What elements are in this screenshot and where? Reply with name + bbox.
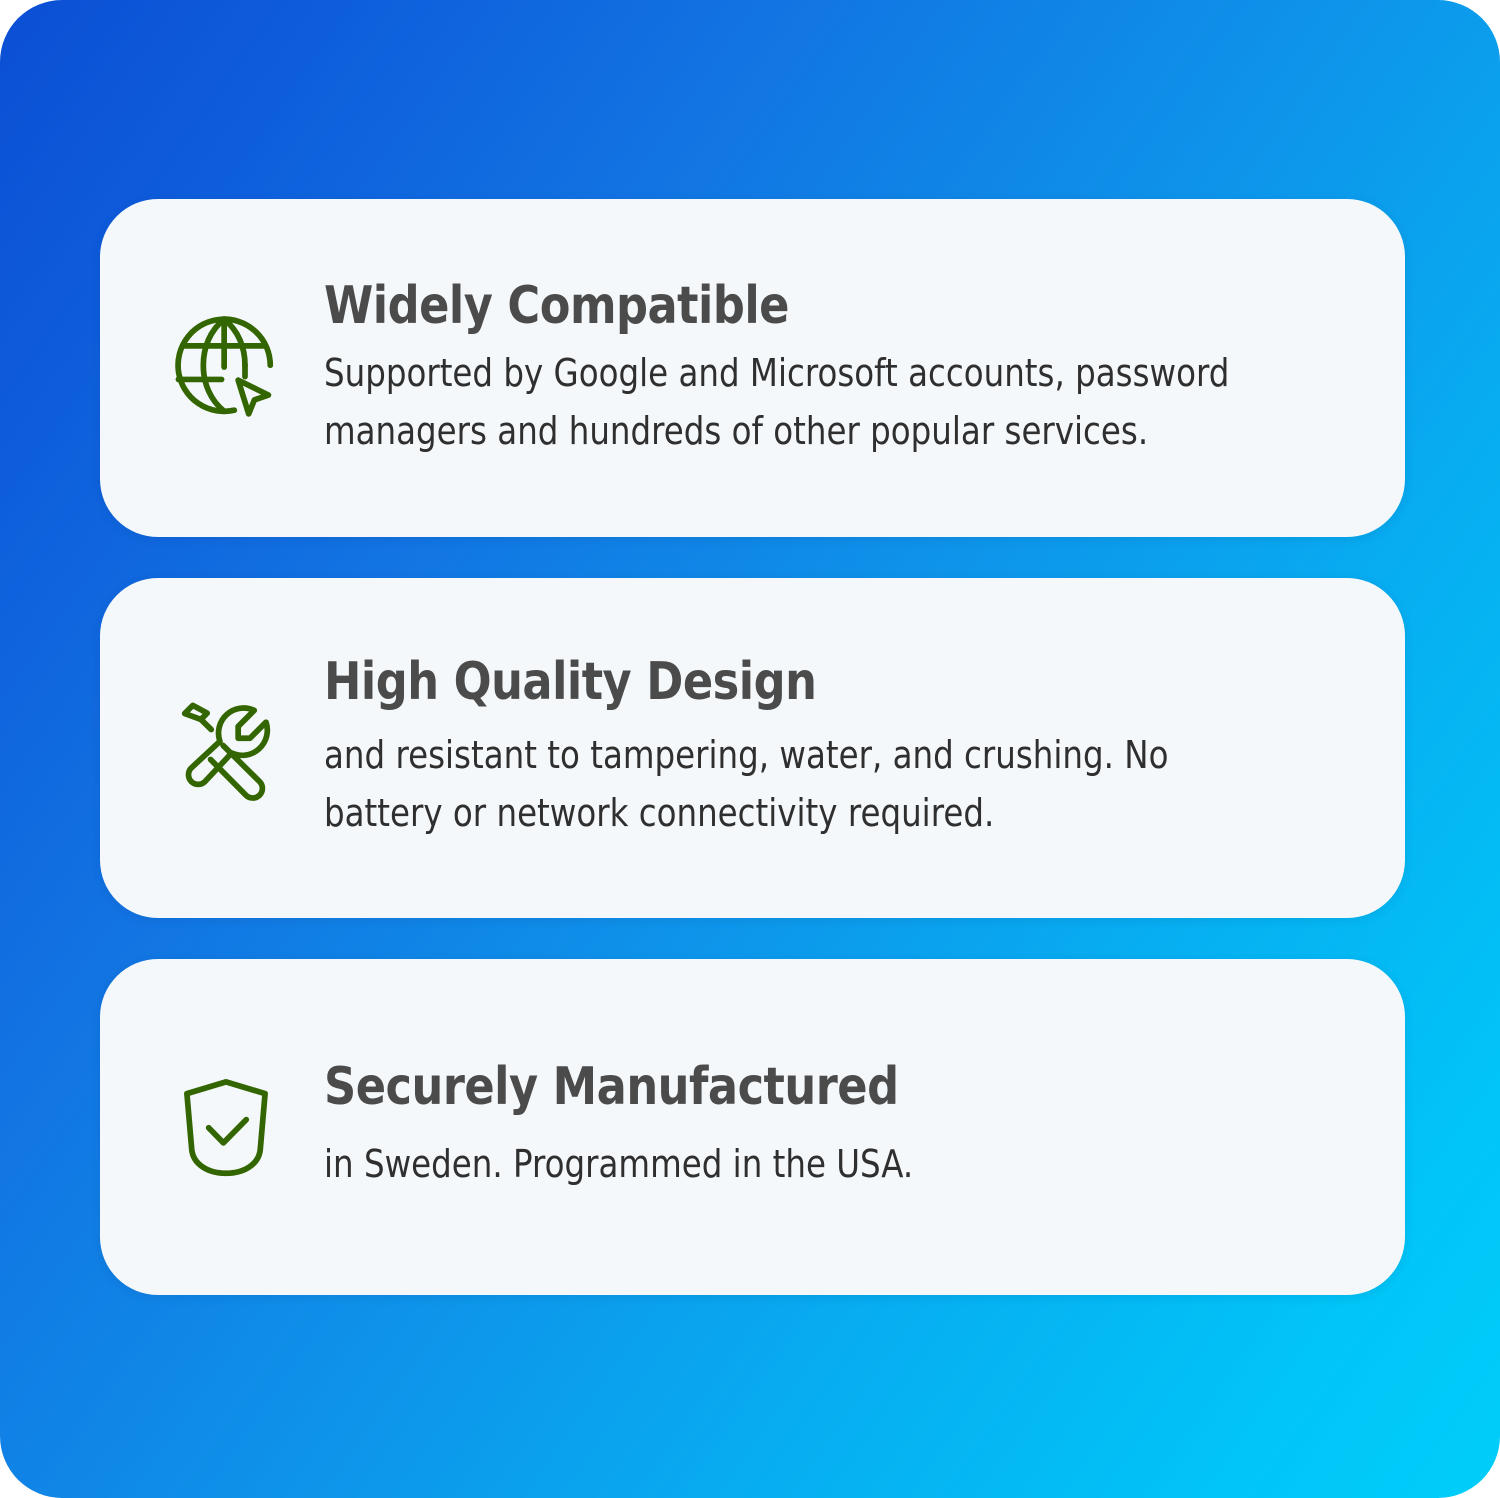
feature-card-body: Widely Compatible Supported by Google an…	[324, 275, 1365, 461]
feature-card: High Quality Design and resistant to tam…	[100, 578, 1405, 918]
wrench-screwdriver-icon	[160, 682, 292, 814]
feature-card-body: Securely Manufactured in Sweden. Program…	[324, 1060, 1365, 1194]
feature-card-text: Supported by Google and Microsoft accoun…	[324, 345, 1282, 461]
feature-card-body: High Quality Design and resistant to tam…	[324, 653, 1365, 843]
feature-card-title: Widely Compatible	[324, 279, 1211, 333]
feature-card: Securely Manufactured in Sweden. Program…	[100, 959, 1405, 1295]
feature-card-title: Securely Manufactured	[324, 1060, 1211, 1114]
feature-poster: Widely Compatible Supported by Google an…	[0, 0, 1500, 1498]
feature-card-text: and resistant to tampering, water, and c…	[324, 727, 1282, 843]
shield-check-icon	[160, 1061, 292, 1193]
globe-cursor-icon	[160, 302, 292, 434]
feature-card-list: Widely Compatible Supported by Google an…	[100, 199, 1405, 1295]
feature-card-title: High Quality Design	[324, 655, 1211, 709]
feature-card: Widely Compatible Supported by Google an…	[100, 199, 1405, 537]
feature-card-text: in Sweden. Programmed in the USA.	[324, 1136, 1282, 1194]
